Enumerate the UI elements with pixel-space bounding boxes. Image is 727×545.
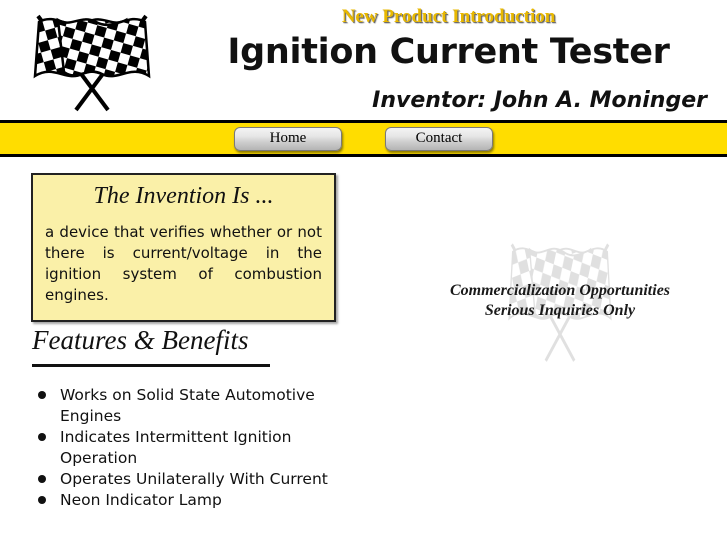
list-item-label: Indicates Intermittent Ignition Operatio… xyxy=(60,428,291,467)
eyebrow-label: New Product Introduction xyxy=(180,6,717,28)
page-header: New Product Introduction Ignition Curren… xyxy=(0,0,727,120)
list-item-label: Works on Solid State Automotive Engines xyxy=(60,386,315,425)
list-item-label: Neon Indicator Lamp xyxy=(60,491,222,509)
bullet-icon xyxy=(38,391,46,399)
watermark-line-1: Commercialization Opportunities xyxy=(410,281,710,301)
nav-button-contact[interactable]: Contact xyxy=(385,127,493,151)
list-item: Operates Unilaterally With Current xyxy=(30,469,335,490)
navigation-bar: Home Contact xyxy=(0,120,727,157)
features-list: Works on Solid State Automotive Engines … xyxy=(30,385,335,511)
list-item: Neon Indicator Lamp xyxy=(30,490,335,511)
features-heading-underline xyxy=(32,364,270,367)
main-content: The Invention Is ... a device that verif… xyxy=(0,157,727,542)
invention-heading: The Invention Is ... xyxy=(45,183,322,210)
bullet-icon xyxy=(38,475,46,483)
watermark-text: Commercialization Opportunities Serious … xyxy=(410,281,710,321)
page-title: Ignition Current Tester xyxy=(180,34,717,71)
bullet-icon xyxy=(38,433,46,441)
list-item-label: Operates Unilaterally With Current xyxy=(60,470,328,488)
invention-callout-box: The Invention Is ... a device that verif… xyxy=(31,173,336,322)
list-item: Works on Solid State Automotive Engines xyxy=(30,385,335,427)
invention-description: a device that verifies whether or not th… xyxy=(45,222,322,306)
header-text-block: New Product Introduction Ignition Curren… xyxy=(180,0,717,71)
nav-button-home[interactable]: Home xyxy=(234,127,342,151)
checkered-racing-flags-icon xyxy=(8,10,176,115)
list-item: Indicates Intermittent Ignition Operatio… xyxy=(30,427,335,469)
commercialization-watermark-block: Commercialization Opportunities Serious … xyxy=(410,237,710,377)
inventor-label: Inventor: John A. Moninger xyxy=(372,88,717,113)
features-heading: Features & Benefits xyxy=(32,325,248,356)
watermark-line-2: Serious Inquiries Only xyxy=(410,301,710,321)
bullet-icon xyxy=(38,496,46,504)
